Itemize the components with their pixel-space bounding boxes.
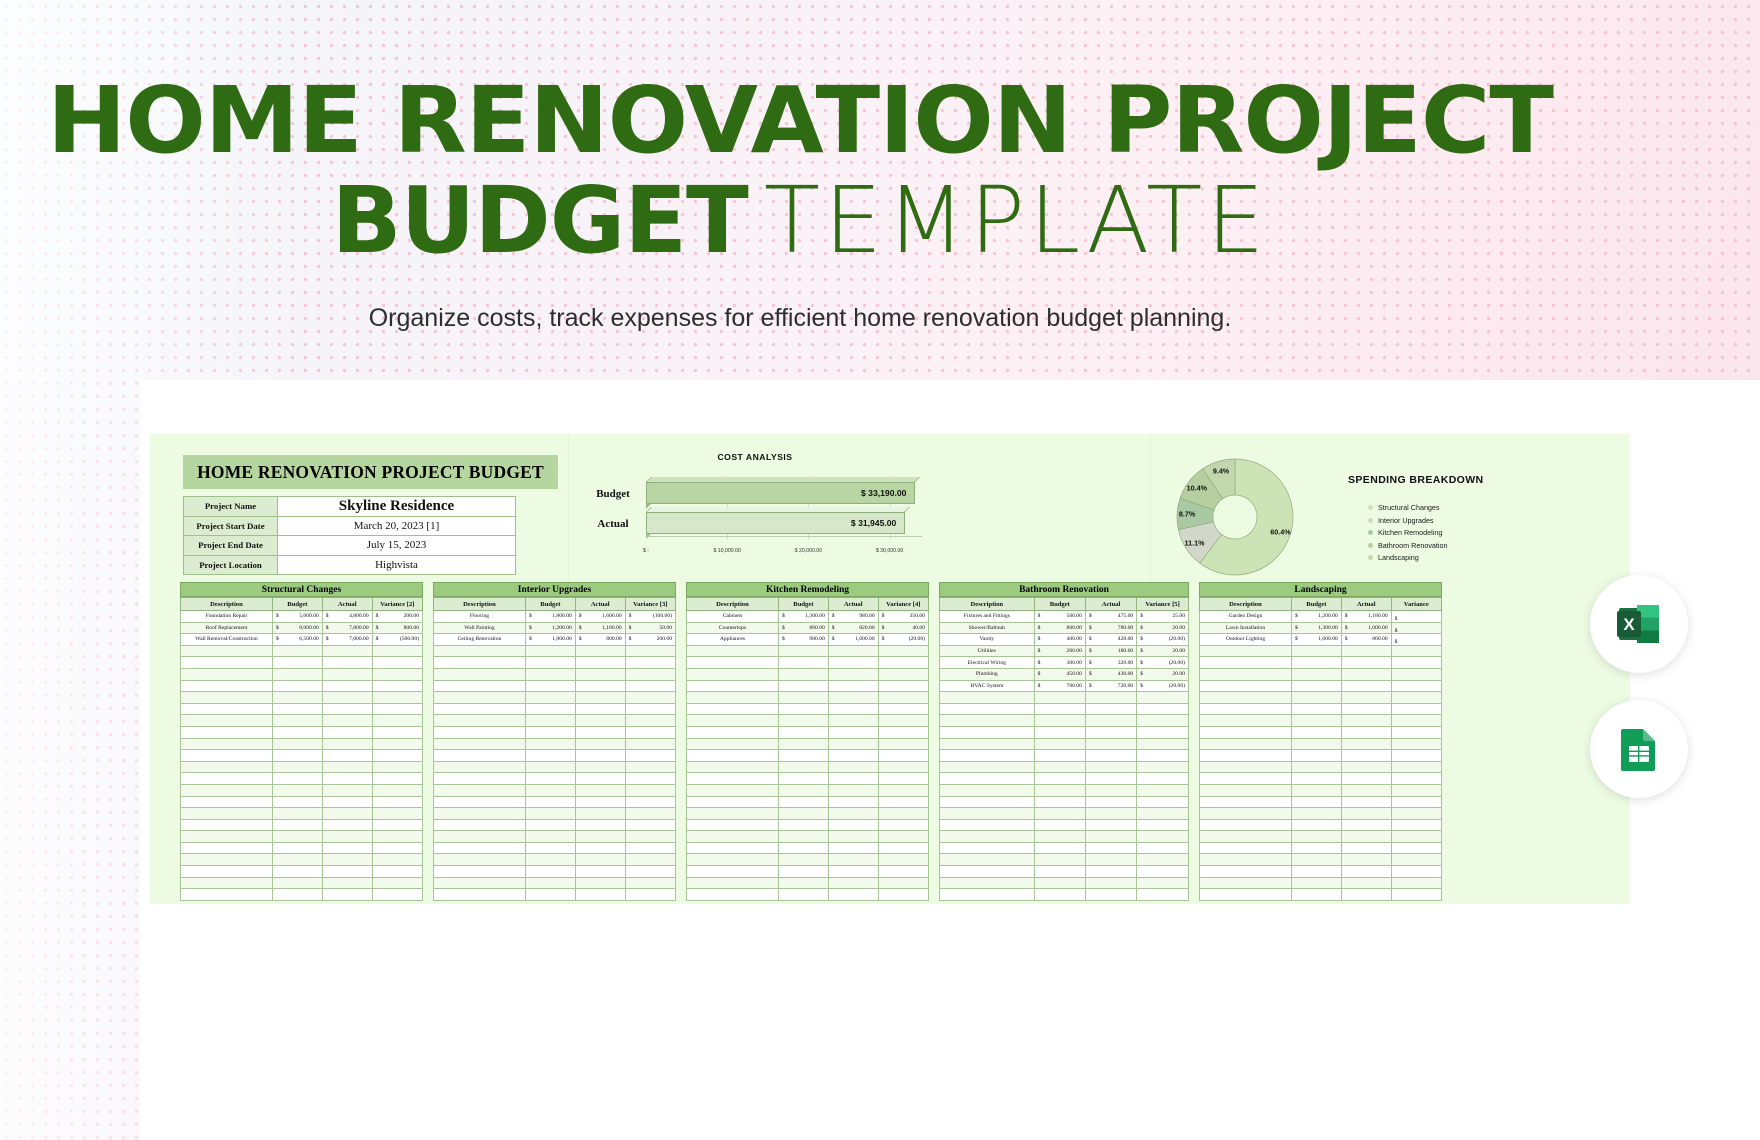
table-cell[interactable] bbox=[434, 645, 526, 657]
table-row[interactable] bbox=[434, 703, 676, 715]
table-row[interactable] bbox=[181, 703, 423, 715]
table-cell[interactable] bbox=[1391, 877, 1441, 889]
table-cell[interactable]: 700.00 bbox=[1034, 680, 1085, 692]
table-cell[interactable] bbox=[1034, 842, 1085, 854]
table-cell[interactable] bbox=[525, 715, 575, 727]
table-cell[interactable] bbox=[372, 796, 422, 808]
table-cell[interactable]: (20.00) bbox=[1137, 634, 1189, 646]
table-row[interactable] bbox=[181, 796, 423, 808]
table-cell[interactable] bbox=[1341, 842, 1391, 854]
table-row[interactable] bbox=[1200, 796, 1442, 808]
table-cell[interactable] bbox=[1034, 761, 1085, 773]
table-cell[interactable] bbox=[1137, 877, 1189, 889]
table-cell[interactable] bbox=[525, 692, 575, 704]
table-row[interactable] bbox=[940, 831, 1189, 843]
table-row[interactable]: Appliances980.001,000.00(20.00) bbox=[687, 634, 929, 646]
table-cell[interactable] bbox=[1200, 692, 1292, 704]
table-row[interactable] bbox=[1200, 819, 1442, 831]
table-row[interactable] bbox=[687, 854, 929, 866]
table-cell[interactable] bbox=[1291, 703, 1341, 715]
table-cell[interactable] bbox=[272, 715, 322, 727]
table-cell[interactable]: 800.00 bbox=[575, 634, 625, 646]
table-row[interactable] bbox=[1200, 703, 1442, 715]
table-cell[interactable] bbox=[687, 680, 779, 692]
table-cell[interactable] bbox=[1391, 611, 1441, 623]
table-cell[interactable]: 200.00 bbox=[372, 611, 422, 623]
table-cell[interactable] bbox=[372, 715, 422, 727]
table-cell[interactable] bbox=[1034, 877, 1085, 889]
table-cell[interactable] bbox=[940, 889, 1035, 901]
table-row[interactable] bbox=[181, 866, 423, 878]
table-cell[interactable] bbox=[878, 889, 928, 901]
table-row[interactable] bbox=[940, 877, 1189, 889]
table-cell[interactable] bbox=[1137, 761, 1189, 773]
table-cell[interactable]: 50.00 bbox=[625, 622, 675, 634]
table-row[interactable] bbox=[940, 773, 1189, 785]
table-cell[interactable] bbox=[878, 645, 928, 657]
table-cell[interactable] bbox=[1085, 773, 1136, 785]
table-cell[interactable] bbox=[940, 738, 1035, 750]
table-cell[interactable] bbox=[181, 877, 273, 889]
table-cell[interactable] bbox=[434, 889, 526, 901]
table-cell[interactable] bbox=[778, 831, 828, 843]
table-cell[interactable]: 980.00 bbox=[778, 634, 828, 646]
table-cell[interactable] bbox=[687, 866, 779, 878]
table-cell[interactable] bbox=[625, 784, 675, 796]
table-cell[interactable] bbox=[1391, 889, 1441, 901]
table-row[interactable] bbox=[181, 738, 423, 750]
table-row[interactable] bbox=[1200, 784, 1442, 796]
table-cell[interactable] bbox=[372, 692, 422, 704]
table-cell[interactable] bbox=[778, 889, 828, 901]
table-cell[interactable] bbox=[1137, 726, 1189, 738]
table-cell[interactable] bbox=[434, 761, 526, 773]
table-cell[interactable] bbox=[1291, 819, 1341, 831]
table-row[interactable]: Plumbing450.00430.0020.00 bbox=[940, 668, 1189, 680]
table-cell[interactable] bbox=[372, 877, 422, 889]
table-cell[interactable] bbox=[525, 842, 575, 854]
table-cell[interactable] bbox=[575, 796, 625, 808]
table-cell[interactable] bbox=[1391, 784, 1441, 796]
table-cell[interactable] bbox=[1391, 796, 1441, 808]
table-cell[interactable]: 6,500.00 bbox=[272, 634, 322, 646]
table-cell[interactable] bbox=[1137, 831, 1189, 843]
table-row[interactable] bbox=[1200, 889, 1442, 901]
table-cell[interactable] bbox=[828, 680, 878, 692]
table-row[interactable] bbox=[181, 842, 423, 854]
table-cell[interactable] bbox=[575, 889, 625, 901]
table-row[interactable] bbox=[181, 645, 423, 657]
table-cell[interactable] bbox=[372, 808, 422, 820]
table-cell[interactable] bbox=[878, 808, 928, 820]
table-cell[interactable] bbox=[181, 866, 273, 878]
table-cell[interactable] bbox=[434, 819, 526, 831]
table-row[interactable] bbox=[181, 831, 423, 843]
table-cell[interactable] bbox=[828, 842, 878, 854]
table-row[interactable] bbox=[1200, 854, 1442, 866]
table-cell[interactable] bbox=[1200, 668, 1292, 680]
table-cell[interactable] bbox=[878, 796, 928, 808]
table-row[interactable] bbox=[434, 877, 676, 889]
table-cell[interactable] bbox=[1137, 854, 1189, 866]
table-cell[interactable] bbox=[322, 877, 372, 889]
table-cell[interactable]: 1,300.00 bbox=[778, 611, 828, 623]
table-cell[interactable] bbox=[575, 831, 625, 843]
table-row[interactable] bbox=[1200, 657, 1442, 669]
table-cell[interactable] bbox=[1085, 842, 1136, 854]
table-cell[interactable] bbox=[878, 668, 928, 680]
table-cell[interactable] bbox=[1200, 703, 1292, 715]
table-row[interactable] bbox=[940, 842, 1189, 854]
table-cell[interactable] bbox=[625, 877, 675, 889]
table-cell[interactable]: Ceiling Renovation bbox=[434, 634, 526, 646]
table-cell[interactable] bbox=[1391, 854, 1441, 866]
table-cell[interactable] bbox=[1391, 738, 1441, 750]
table-cell[interactable] bbox=[828, 831, 878, 843]
table-cell[interactable] bbox=[1200, 889, 1292, 901]
table-cell[interactable] bbox=[828, 796, 878, 808]
table-cell[interactable] bbox=[575, 819, 625, 831]
table-cell[interactable] bbox=[1200, 877, 1292, 889]
table-cell[interactable]: Fixtures and Fittings bbox=[940, 611, 1035, 623]
table-cell[interactable] bbox=[372, 703, 422, 715]
table-cell[interactable] bbox=[1341, 750, 1391, 762]
table-row[interactable] bbox=[434, 819, 676, 831]
table-cell[interactable] bbox=[1034, 866, 1085, 878]
table-cell[interactable] bbox=[778, 796, 828, 808]
table-cell[interactable] bbox=[525, 831, 575, 843]
table-cell[interactable] bbox=[575, 715, 625, 727]
table-row[interactable] bbox=[1200, 726, 1442, 738]
table-row[interactable]: Foundation Repair5,000.004,800.00200.00 bbox=[181, 611, 423, 623]
table-cell[interactable] bbox=[322, 842, 372, 854]
table-cell[interactable] bbox=[1291, 750, 1341, 762]
table-row[interactable] bbox=[434, 715, 676, 727]
table-cell[interactable] bbox=[525, 773, 575, 785]
table-cell[interactable] bbox=[1200, 773, 1292, 785]
table-cell[interactable] bbox=[272, 784, 322, 796]
table-cell[interactable] bbox=[778, 877, 828, 889]
table-row[interactable]: Electrical Wiring300.00320.00(20.00) bbox=[940, 657, 1189, 669]
table-cell[interactable] bbox=[625, 831, 675, 843]
table-cell[interactable] bbox=[778, 842, 828, 854]
table-row[interactable] bbox=[687, 680, 929, 692]
table-cell[interactable] bbox=[434, 854, 526, 866]
table-cell[interactable] bbox=[272, 668, 322, 680]
table-cell[interactable] bbox=[828, 854, 878, 866]
table-cell[interactable] bbox=[1291, 889, 1341, 901]
table-cell[interactable] bbox=[372, 657, 422, 669]
table-cell[interactable] bbox=[1034, 808, 1085, 820]
table-cell[interactable] bbox=[322, 761, 372, 773]
table-cell[interactable] bbox=[1391, 761, 1441, 773]
table-cell[interactable]: 8,000.00 bbox=[272, 622, 322, 634]
table-cell[interactable] bbox=[878, 703, 928, 715]
table-cell[interactable] bbox=[1085, 808, 1136, 820]
table-cell[interactable] bbox=[322, 796, 372, 808]
table-row[interactable]: Roof Replacement8,000.007,800.00800.00 bbox=[181, 622, 423, 634]
table-cell[interactable] bbox=[1341, 854, 1391, 866]
table-cell[interactable] bbox=[625, 819, 675, 831]
table-cell[interactable] bbox=[1291, 680, 1341, 692]
table-cell[interactable] bbox=[687, 645, 779, 657]
table-cell[interactable] bbox=[372, 819, 422, 831]
table-cell[interactable] bbox=[1291, 866, 1341, 878]
table-cell[interactable] bbox=[272, 819, 322, 831]
table-cell[interactable]: Shower/Bathtub bbox=[940, 622, 1035, 634]
table-cell[interactable] bbox=[372, 738, 422, 750]
table-cell[interactable] bbox=[1391, 750, 1441, 762]
table-cell[interactable] bbox=[625, 796, 675, 808]
table-row[interactable] bbox=[687, 703, 929, 715]
table-cell[interactable] bbox=[687, 842, 779, 854]
table-cell[interactable] bbox=[434, 773, 526, 785]
table-cell[interactable] bbox=[1291, 715, 1341, 727]
table-row[interactable] bbox=[181, 877, 423, 889]
table-cell[interactable] bbox=[878, 866, 928, 878]
table-row[interactable] bbox=[181, 750, 423, 762]
table-row[interactable] bbox=[1200, 750, 1442, 762]
project-info-value[interactable]: March 20, 2023 [1] bbox=[278, 516, 516, 536]
table-row[interactable] bbox=[434, 773, 676, 785]
table-row[interactable] bbox=[687, 692, 929, 704]
table-cell[interactable] bbox=[1391, 634, 1441, 646]
table-cell[interactable] bbox=[434, 877, 526, 889]
table-cell[interactable] bbox=[434, 808, 526, 820]
table-cell[interactable] bbox=[322, 866, 372, 878]
table-row[interactable] bbox=[687, 877, 929, 889]
table-cell[interactable] bbox=[1291, 796, 1341, 808]
table-cell[interactable]: 40.00 bbox=[878, 622, 928, 634]
table-cell[interactable] bbox=[272, 796, 322, 808]
table-cell[interactable] bbox=[940, 784, 1035, 796]
table-cell[interactable] bbox=[372, 842, 422, 854]
table-cell[interactable] bbox=[434, 668, 526, 680]
table-row[interactable] bbox=[434, 692, 676, 704]
table-cell[interactable] bbox=[687, 692, 779, 704]
table-cell[interactable]: Utilities bbox=[940, 645, 1035, 657]
table-row[interactable] bbox=[687, 889, 929, 901]
table-cell[interactable] bbox=[1341, 692, 1391, 704]
table-cell[interactable] bbox=[322, 773, 372, 785]
table-cell[interactable] bbox=[272, 645, 322, 657]
table-cell[interactable] bbox=[575, 645, 625, 657]
table-cell[interactable] bbox=[625, 761, 675, 773]
table-row[interactable] bbox=[181, 657, 423, 669]
table-cell[interactable] bbox=[1200, 645, 1292, 657]
table-cell[interactable] bbox=[778, 761, 828, 773]
table-cell[interactable] bbox=[940, 877, 1035, 889]
table-cell[interactable] bbox=[625, 866, 675, 878]
table-cell[interactable]: (20.00) bbox=[878, 634, 928, 646]
table-cell[interactable] bbox=[272, 842, 322, 854]
table-cell[interactable] bbox=[1391, 622, 1441, 634]
table-row[interactable] bbox=[434, 889, 676, 901]
table-cell[interactable]: 820.00 bbox=[828, 622, 878, 634]
table-cell[interactable] bbox=[878, 750, 928, 762]
table-cell[interactable] bbox=[1200, 761, 1292, 773]
table-cell[interactable] bbox=[434, 866, 526, 878]
table-cell[interactable]: (100.00) bbox=[625, 611, 675, 623]
table-cell[interactable] bbox=[1085, 889, 1136, 901]
table-cell[interactable] bbox=[940, 750, 1035, 762]
table-cell[interactable]: 1,000.00 bbox=[1341, 622, 1391, 634]
table-cell[interactable] bbox=[434, 738, 526, 750]
table-cell[interactable] bbox=[372, 726, 422, 738]
table-cell[interactable] bbox=[828, 808, 878, 820]
table-cell[interactable] bbox=[1137, 715, 1189, 727]
table-cell[interactable] bbox=[625, 715, 675, 727]
table-cell[interactable] bbox=[625, 668, 675, 680]
table-cell[interactable] bbox=[1200, 715, 1292, 727]
table-cell[interactable]: Countertops bbox=[687, 622, 779, 634]
table-row[interactable] bbox=[940, 889, 1189, 901]
table-cell[interactable] bbox=[181, 831, 273, 843]
table-cell[interactable] bbox=[778, 703, 828, 715]
table-row[interactable] bbox=[181, 773, 423, 785]
table-cell[interactable] bbox=[625, 726, 675, 738]
table-cell[interactable] bbox=[1341, 657, 1391, 669]
table-row[interactable] bbox=[687, 726, 929, 738]
table-row[interactable] bbox=[181, 692, 423, 704]
table-cell[interactable] bbox=[878, 877, 928, 889]
table-cell[interactable] bbox=[322, 715, 372, 727]
table-cell[interactable]: 860.00 bbox=[1341, 634, 1391, 646]
table-cell[interactable] bbox=[687, 738, 779, 750]
table-cell[interactable]: 400.00 bbox=[1034, 634, 1085, 646]
table-cell[interactable] bbox=[687, 761, 779, 773]
table-cell[interactable] bbox=[1137, 866, 1189, 878]
table-cell[interactable]: 25.00 bbox=[1137, 611, 1189, 623]
table-cell[interactable] bbox=[181, 703, 273, 715]
table-row[interactable] bbox=[434, 657, 676, 669]
table-cell[interactable] bbox=[575, 761, 625, 773]
table-cell[interactable] bbox=[940, 773, 1035, 785]
table-cell[interactable] bbox=[1200, 784, 1292, 796]
table-cell[interactable] bbox=[575, 877, 625, 889]
table-row[interactable]: Flooring1,800.001,600.00(100.00) bbox=[434, 611, 676, 623]
table-cell[interactable]: 1,180.00 bbox=[1341, 611, 1391, 623]
table-cell[interactable] bbox=[1200, 750, 1292, 762]
table-cell[interactable] bbox=[687, 819, 779, 831]
table-cell[interactable] bbox=[181, 854, 273, 866]
table-row[interactable] bbox=[940, 796, 1189, 808]
table-row[interactable] bbox=[687, 866, 929, 878]
table-cell[interactable]: 1,180.00 bbox=[575, 622, 625, 634]
table-cell[interactable] bbox=[525, 738, 575, 750]
table-row[interactable]: Vanity400.00420.00(20.00) bbox=[940, 634, 1189, 646]
table-row[interactable] bbox=[940, 750, 1189, 762]
table-cell[interactable] bbox=[828, 750, 878, 762]
table-cell[interactable] bbox=[525, 657, 575, 669]
table-cell[interactable] bbox=[372, 668, 422, 680]
table-cell[interactable] bbox=[1137, 842, 1189, 854]
table-cell[interactable] bbox=[940, 842, 1035, 854]
table-row[interactable] bbox=[434, 726, 676, 738]
table-cell[interactable] bbox=[181, 750, 273, 762]
table-cell[interactable] bbox=[625, 657, 675, 669]
google-sheets-badge[interactable] bbox=[1590, 700, 1688, 798]
table-cell[interactable]: 1,300.00 bbox=[1291, 622, 1341, 634]
table-cell[interactable]: 1,200.00 bbox=[525, 622, 575, 634]
table-cell[interactable] bbox=[1391, 808, 1441, 820]
table-cell[interactable] bbox=[1291, 726, 1341, 738]
table-cell[interactable] bbox=[575, 680, 625, 692]
table-cell[interactable]: Cabinets bbox=[687, 611, 779, 623]
table-cell[interactable] bbox=[322, 854, 372, 866]
table-row[interactable] bbox=[434, 854, 676, 866]
table-cell[interactable] bbox=[434, 796, 526, 808]
table-row[interactable] bbox=[1200, 877, 1442, 889]
table-cell[interactable] bbox=[687, 854, 779, 866]
table-cell[interactable]: 1,000.00 bbox=[1291, 634, 1341, 646]
table-row[interactable] bbox=[1200, 842, 1442, 854]
table-cell[interactable] bbox=[1200, 738, 1292, 750]
table-cell[interactable] bbox=[575, 773, 625, 785]
table-cell[interactable] bbox=[272, 703, 322, 715]
table-cell[interactable] bbox=[181, 668, 273, 680]
table-cell[interactable] bbox=[687, 750, 779, 762]
table-cell[interactable]: 1,000.00 bbox=[525, 634, 575, 646]
table-row[interactable] bbox=[181, 854, 423, 866]
table-cell[interactable] bbox=[525, 750, 575, 762]
table-cell[interactable] bbox=[687, 726, 779, 738]
table-cell[interactable] bbox=[878, 726, 928, 738]
table-row[interactable] bbox=[434, 738, 676, 750]
table-cell[interactable] bbox=[525, 877, 575, 889]
table-cell[interactable] bbox=[1291, 831, 1341, 843]
table-cell[interactable] bbox=[878, 692, 928, 704]
table-cell[interactable]: 7,800.00 bbox=[322, 622, 372, 634]
table-cell[interactable] bbox=[1085, 715, 1136, 727]
table-cell[interactable] bbox=[181, 680, 273, 692]
table-cell[interactable] bbox=[322, 680, 372, 692]
table-cell[interactable] bbox=[1137, 738, 1189, 750]
table-cell[interactable]: Foundation Repair bbox=[181, 611, 273, 623]
table-cell[interactable] bbox=[1085, 877, 1136, 889]
table-cell[interactable] bbox=[1391, 866, 1441, 878]
table-cell[interactable] bbox=[1085, 692, 1136, 704]
table-cell[interactable] bbox=[372, 831, 422, 843]
table-cell[interactable] bbox=[1200, 726, 1292, 738]
table-cell[interactable]: 500.00 bbox=[1034, 611, 1085, 623]
table-cell[interactable] bbox=[625, 645, 675, 657]
table-cell[interactable] bbox=[1391, 819, 1441, 831]
table-cell[interactable] bbox=[1391, 645, 1441, 657]
table-cell[interactable] bbox=[575, 842, 625, 854]
table-cell[interactable] bbox=[181, 761, 273, 773]
table-cell[interactable]: 5,000.00 bbox=[272, 611, 322, 623]
table-cell[interactable] bbox=[940, 796, 1035, 808]
table-cell[interactable] bbox=[1200, 866, 1292, 878]
table-cell[interactable] bbox=[778, 726, 828, 738]
table-cell[interactable]: HVAC System bbox=[940, 680, 1035, 692]
table-row[interactable] bbox=[181, 715, 423, 727]
table-cell[interactable]: 350.00 bbox=[878, 611, 928, 623]
table-cell[interactable] bbox=[778, 784, 828, 796]
table-row[interactable] bbox=[687, 668, 929, 680]
table-row[interactable] bbox=[181, 668, 423, 680]
table-cell[interactable] bbox=[1341, 668, 1391, 680]
table-cell[interactable]: 200.00 bbox=[1034, 645, 1085, 657]
table-cell[interactable] bbox=[1341, 680, 1391, 692]
table-cell[interactable] bbox=[434, 842, 526, 854]
table-cell[interactable] bbox=[525, 703, 575, 715]
table-row[interactable] bbox=[181, 761, 423, 773]
table-row[interactable] bbox=[687, 715, 929, 727]
table-cell[interactable] bbox=[272, 738, 322, 750]
table-cell[interactable] bbox=[272, 761, 322, 773]
